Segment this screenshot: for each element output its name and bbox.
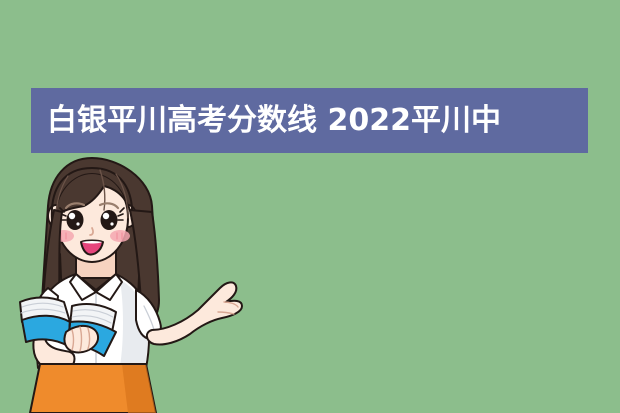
eye-highlight-left xyxy=(69,213,75,219)
page-title: 白银平川高考分数线 2022平川中 xyxy=(31,106,501,136)
eye-glint-left xyxy=(76,222,79,225)
eye-right xyxy=(101,210,118,230)
eye-left xyxy=(67,210,84,230)
title-banner: 白银平川高考分数线 2022平川中 xyxy=(31,88,588,153)
blush-right xyxy=(110,230,130,242)
eye-highlight-right xyxy=(103,213,109,219)
student-illustration xyxy=(0,150,260,413)
image-canvas: 白银平川高考分数线 2022平川中 xyxy=(0,0,620,413)
student-illustration-svg xyxy=(0,150,260,413)
eye-glint-right xyxy=(110,222,113,225)
